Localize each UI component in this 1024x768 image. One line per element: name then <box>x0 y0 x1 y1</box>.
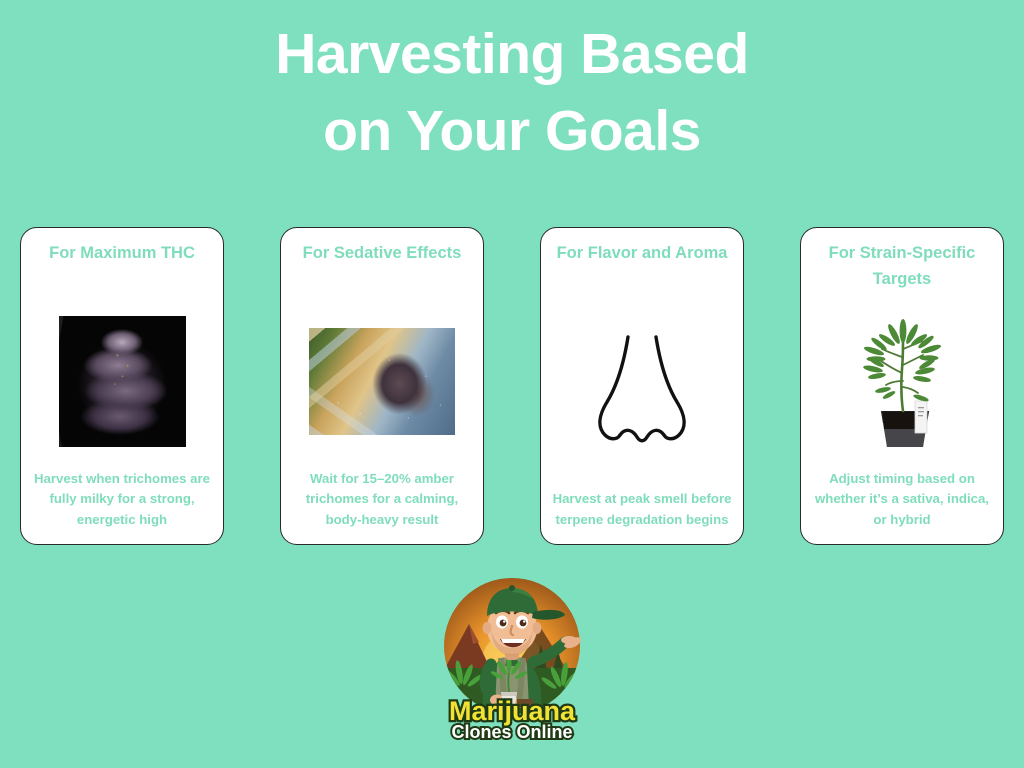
card-media <box>291 294 473 469</box>
card-title: For Flavor and Aroma <box>551 240 733 292</box>
card-media <box>811 295 993 469</box>
nose-icon <box>580 328 704 456</box>
goal-card-maximum-thc[interactable]: For Maximum THC Harvest when trichomes a… <box>20 227 224 545</box>
card-media <box>551 294 733 489</box>
card-title: For Sedative Effects <box>291 240 473 292</box>
goal-card-strain-specific-targets[interactable]: For Strain-Specific Targets <box>800 227 1004 545</box>
card-description: Harvest when trichomes are fully milky f… <box>31 469 213 534</box>
logo-subtitle-text: Clones Online <box>451 722 572 742</box>
page-title-line-2: on Your Goals <box>0 93 1024 170</box>
page-title-line-1: Harvesting Based <box>0 16 1024 93</box>
card-title: For Strain-Specific Targets <box>811 240 993 293</box>
goal-card-flavor-and-aroma[interactable]: For Flavor and Aroma Harvest at peak sme… <box>540 227 744 545</box>
card-title: For Maximum THC <box>31 240 213 292</box>
farmer-mascot-holding-cannabis-seedling: Marijuana Clones Online <box>417 558 607 748</box>
frosty-amber-trichome-bud-photo <box>309 328 455 435</box>
card-description: Adjust timing based on whether it’s a sa… <box>811 469 993 534</box>
card-description: Wait for 15–20% amber trichomes for a ca… <box>291 469 473 534</box>
goal-cards-row: For Maximum THC Harvest when trichomes a… <box>20 227 1004 547</box>
brand-logo[interactable]: Marijuana Clones Online <box>417 558 607 748</box>
card-description: Harvest at peak smell before terpene deg… <box>551 489 733 534</box>
cannabis-clone-in-pot-photo <box>843 311 961 453</box>
goal-card-sedative-effects[interactable]: For Sedative Effects Wait for 15–20% amb… <box>280 227 484 545</box>
card-media <box>31 294 213 469</box>
page-title: Harvesting Based on Your Goals <box>0 16 1024 170</box>
dark-purple-trichome-bud-photo <box>59 316 186 447</box>
